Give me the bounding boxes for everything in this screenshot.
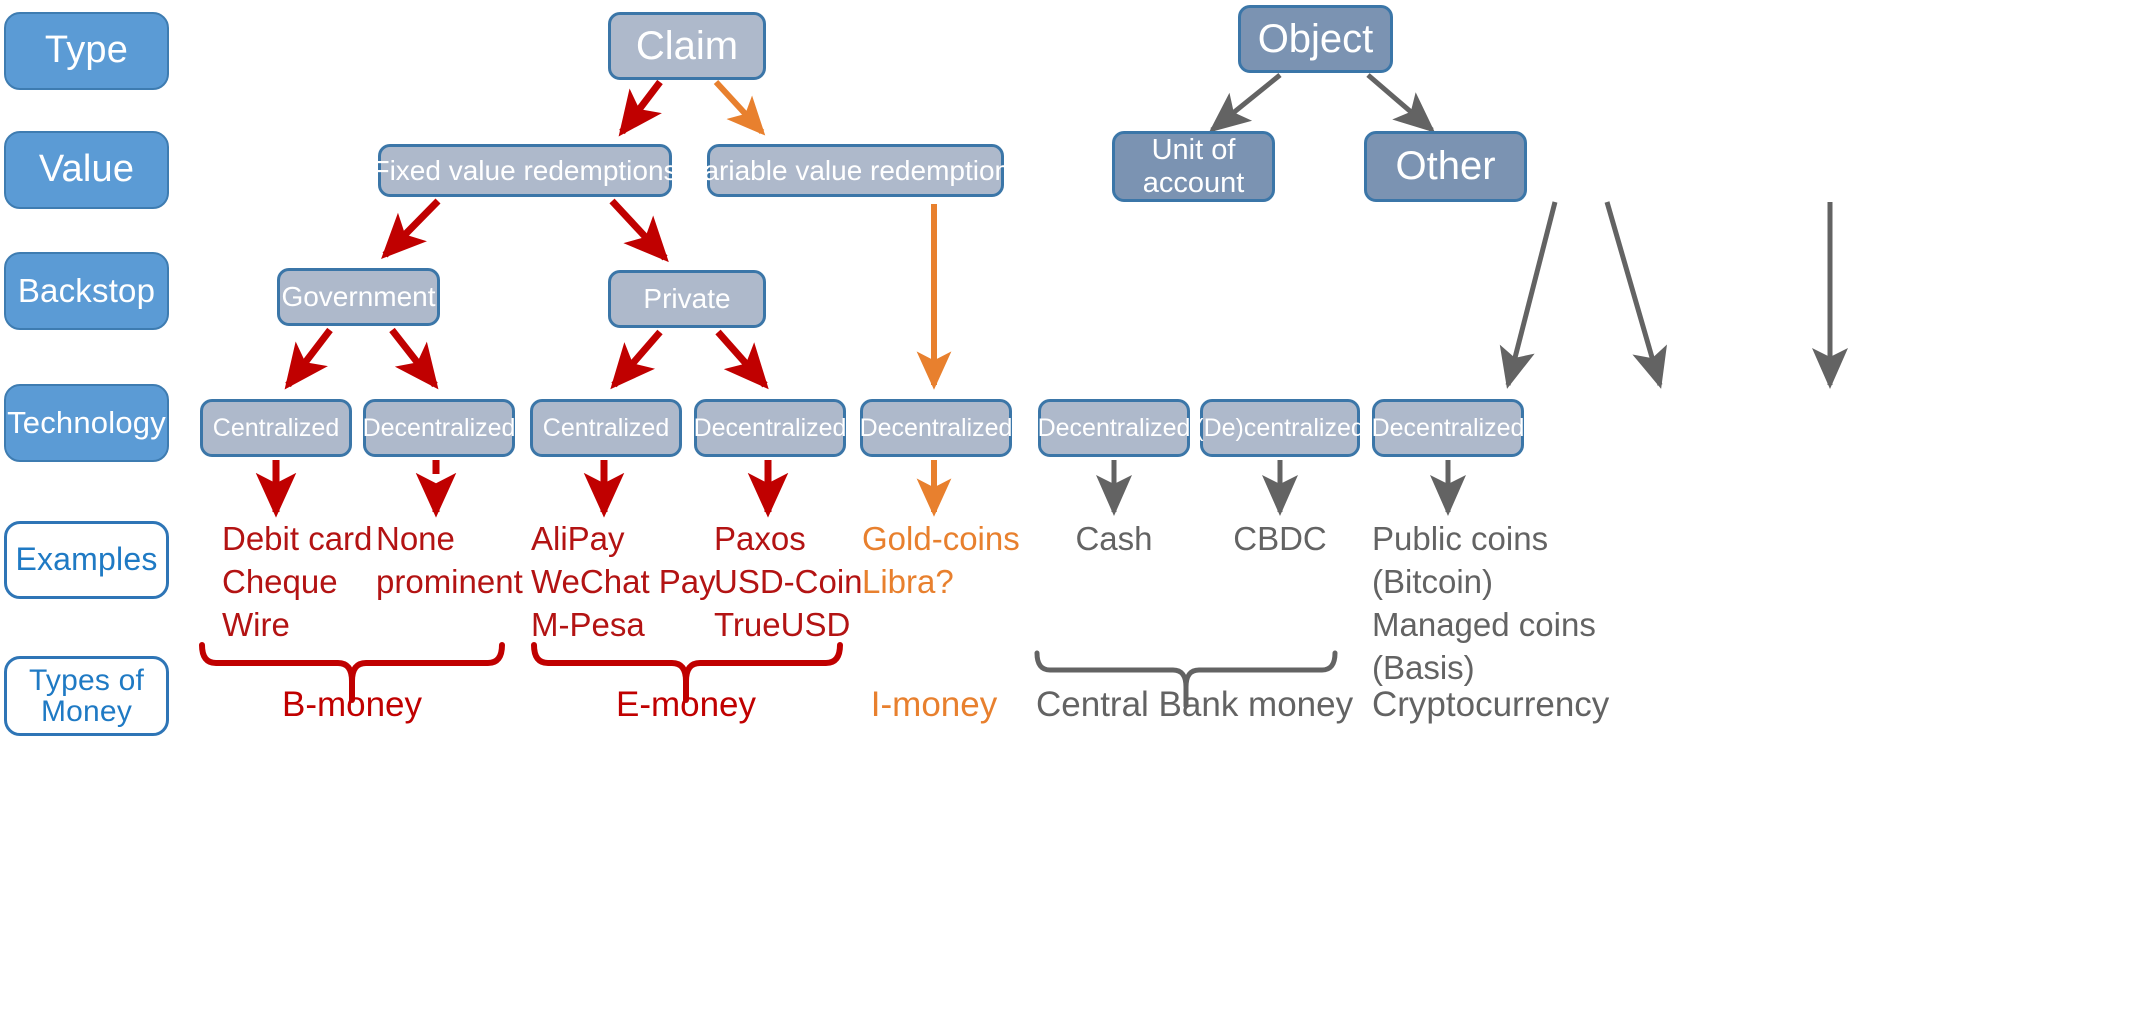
node-tech-centralized-government[interactable]: Centralized bbox=[200, 399, 352, 457]
examples-b-money-centralized: Debit card Cheque Wire bbox=[222, 518, 402, 647]
node-tech-decentralized-crypto-label: Decentralized bbox=[1372, 414, 1525, 442]
node-tech-centralized-government-label: Centralized bbox=[213, 414, 339, 442]
money-type-i-money: I-money bbox=[834, 685, 1034, 725]
node-object[interactable]: Object bbox=[1238, 5, 1393, 73]
arrow-unit-to-decentralized bbox=[1508, 202, 1555, 385]
row-label-backstop[interactable]: Backstop bbox=[4, 252, 169, 330]
money-type-central-bank-money: Central Bank money bbox=[1036, 685, 1336, 725]
arrow-object-to-other bbox=[1368, 75, 1432, 130]
node-tech-decentralized-government[interactable]: Decentralized bbox=[363, 399, 515, 457]
node-unit-of-account[interactable]: Unit of account bbox=[1112, 131, 1275, 202]
node-tech-de-centralized-cbdc[interactable]: (De)centralized bbox=[1200, 399, 1360, 457]
row-label-technology-text: Technology bbox=[7, 407, 166, 440]
arrow-fixed-to-government bbox=[385, 201, 438, 255]
node-tech-decentralized-government-label: Decentralized bbox=[363, 414, 516, 442]
arrow-claim-to-variable bbox=[716, 82, 762, 132]
node-unit-of-account-label: Unit of account bbox=[1143, 134, 1245, 199]
node-tech-decentralized-variable-label: Decentralized bbox=[860, 414, 1013, 442]
row-label-value[interactable]: Value bbox=[4, 131, 169, 209]
brace-b-money bbox=[202, 645, 502, 681]
connector-layer bbox=[0, 0, 2145, 1033]
node-private-label: Private bbox=[643, 283, 730, 314]
examples-i-money: Gold-coins Libra? bbox=[862, 518, 1052, 604]
row-label-value-text: Value bbox=[39, 150, 134, 190]
node-variable-value-redemptions-label: Variable value redemptions bbox=[687, 155, 1024, 186]
brace-e-money bbox=[534, 645, 840, 681]
node-variable-value-redemptions[interactable]: Variable value redemptions bbox=[707, 144, 1004, 197]
node-tech-decentralized-cash[interactable]: Decentralized bbox=[1038, 399, 1190, 457]
node-private[interactable]: Private bbox=[608, 270, 766, 328]
node-tech-decentralized-private[interactable]: Decentralized bbox=[694, 399, 846, 457]
arrow-object-to-unit bbox=[1212, 75, 1280, 130]
examples-e-money-centralized: AliPay WeChat Pay M-Pesa bbox=[531, 518, 736, 647]
node-other[interactable]: Other bbox=[1364, 131, 1527, 202]
node-tech-decentralized-private-label: Decentralized bbox=[694, 414, 847, 442]
node-tech-decentralized-cash-label: Decentralized bbox=[1038, 414, 1191, 442]
node-tech-centralized-private-label: Centralized bbox=[543, 414, 669, 442]
node-claim[interactable]: Claim bbox=[608, 12, 766, 80]
money-type-b-money: B-money bbox=[252, 685, 452, 725]
node-government-label: Government bbox=[281, 281, 435, 312]
arrow-fixed-to-private bbox=[612, 201, 665, 258]
arrow-unit-to-decentralized-cbdc bbox=[1607, 202, 1660, 385]
arrow-private-to-centralized bbox=[614, 332, 660, 385]
examples-cryptocurrency: Public coins (Bitcoin) Managed coins (Ba… bbox=[1372, 518, 1612, 690]
examples-cash: Cash bbox=[1034, 518, 1194, 561]
arrow-private-to-decentralized bbox=[718, 332, 765, 385]
node-tech-centralized-private[interactable]: Centralized bbox=[530, 399, 682, 457]
node-fixed-value-redemptions-label: Fixed value redemptions bbox=[372, 155, 677, 186]
money-type-cryptocurrency: Cryptocurrency bbox=[1372, 685, 1642, 725]
node-tech-de-centralized-cbdc-label: (De)centralized bbox=[1195, 414, 1365, 442]
row-label-examples-text: Examples bbox=[15, 543, 157, 577]
node-fixed-value-redemptions[interactable]: Fixed value redemptions bbox=[378, 144, 672, 197]
brace-central-bank-money bbox=[1037, 653, 1335, 687]
node-claim-label: Claim bbox=[636, 24, 738, 69]
node-government[interactable]: Government bbox=[277, 268, 440, 326]
row-label-backstop-text: Backstop bbox=[18, 274, 155, 309]
examples-cbdc: CBDC bbox=[1200, 518, 1360, 561]
row-label-examples[interactable]: Examples bbox=[4, 521, 169, 599]
row-label-technology[interactable]: Technology bbox=[4, 384, 169, 462]
node-object-label: Object bbox=[1258, 17, 1374, 62]
money-type-e-money: E-money bbox=[586, 685, 786, 725]
row-label-type[interactable]: Type bbox=[4, 12, 169, 90]
node-other-label: Other bbox=[1395, 144, 1495, 189]
row-label-types-of-money[interactable]: Types of Money bbox=[4, 656, 169, 736]
node-tech-decentralized-crypto[interactable]: Decentralized bbox=[1372, 399, 1524, 457]
row-label-types-of-money-text: Types of Money bbox=[29, 665, 144, 728]
diagram-canvas: Type Value Backstop Technology Examples … bbox=[0, 0, 2145, 1033]
node-tech-decentralized-variable[interactable]: Decentralized bbox=[860, 399, 1012, 457]
arrow-government-to-centralized bbox=[288, 330, 330, 385]
arrow-claim-to-fixed bbox=[622, 82, 660, 132]
row-label-type-text: Type bbox=[45, 31, 128, 71]
arrow-government-to-decentralized bbox=[392, 330, 435, 385]
